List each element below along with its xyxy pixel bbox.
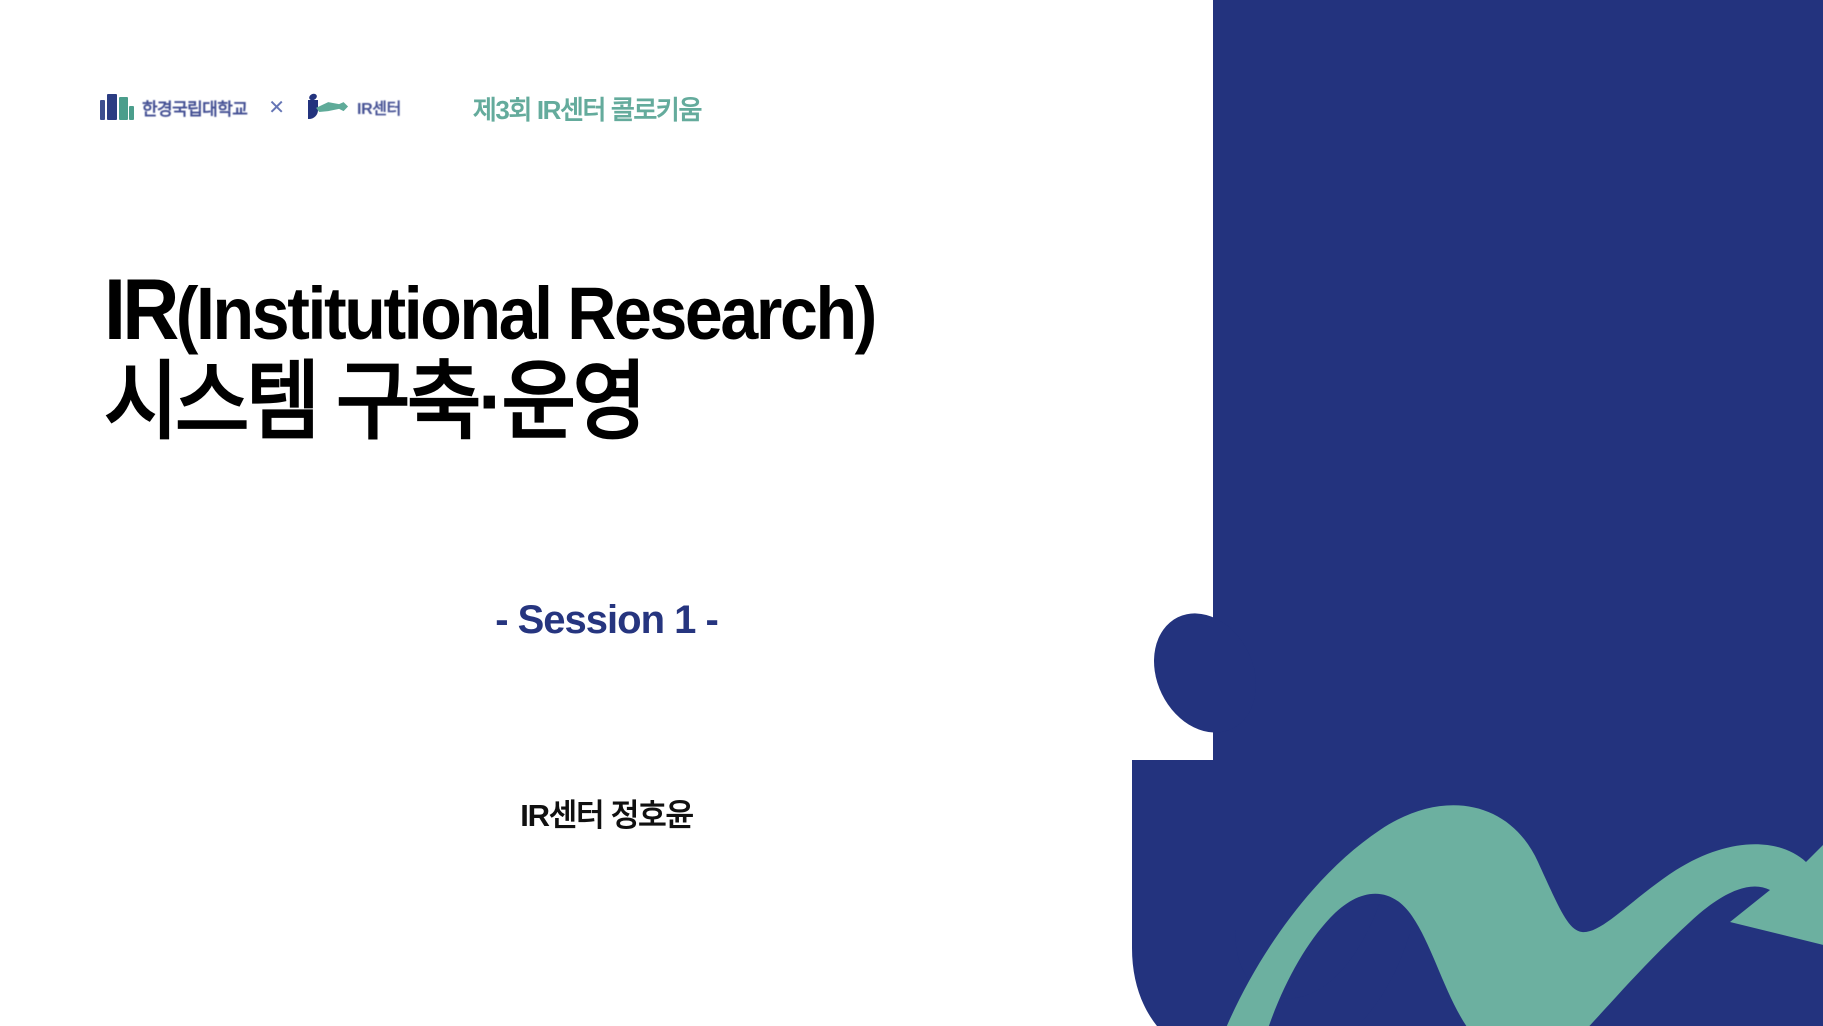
university-name: 한경국립대학교 bbox=[142, 95, 247, 120]
title-abbreviation: IR bbox=[104, 262, 176, 358]
slide-header: 한경국립대학교 ✕ IR센터 제3회 IR센터 콜로키움 bbox=[100, 86, 701, 128]
university-logo: 한경국립대학교 bbox=[100, 94, 247, 120]
presenter-name: IR센터 정호윤 bbox=[0, 790, 1213, 835]
bar-chart-logo-icon bbox=[100, 94, 134, 120]
title-block: IR(Institutional Research) 시스템 구축·운영 bbox=[104, 268, 1064, 445]
partnership-cross-icon: ✕ bbox=[268, 95, 285, 120]
ir-center-name: IR센터 bbox=[357, 95, 401, 119]
ir-swoosh-logo-icon bbox=[306, 94, 350, 120]
page-title-line-2: 시스템 구축·운영 bbox=[104, 359, 1006, 445]
title-expansion: (Institutional Research) bbox=[176, 272, 875, 355]
right-navy-panel bbox=[1213, 0, 1823, 1026]
event-title: 제3회 IR센터 콜로키움 bbox=[473, 90, 701, 127]
ir-center-logo: IR센터 bbox=[306, 94, 401, 120]
session-label: - Session 1 - bbox=[0, 598, 1213, 643]
presentation-slide: 한경국립대학교 ✕ IR센터 제3회 IR센터 콜로키움 IR(Institut… bbox=[0, 0, 1823, 1026]
page-title-line-1: IR(Institutional Research) bbox=[104, 268, 987, 353]
logo-lockup: 한경국립대학교 ✕ IR센터 bbox=[100, 90, 401, 124]
